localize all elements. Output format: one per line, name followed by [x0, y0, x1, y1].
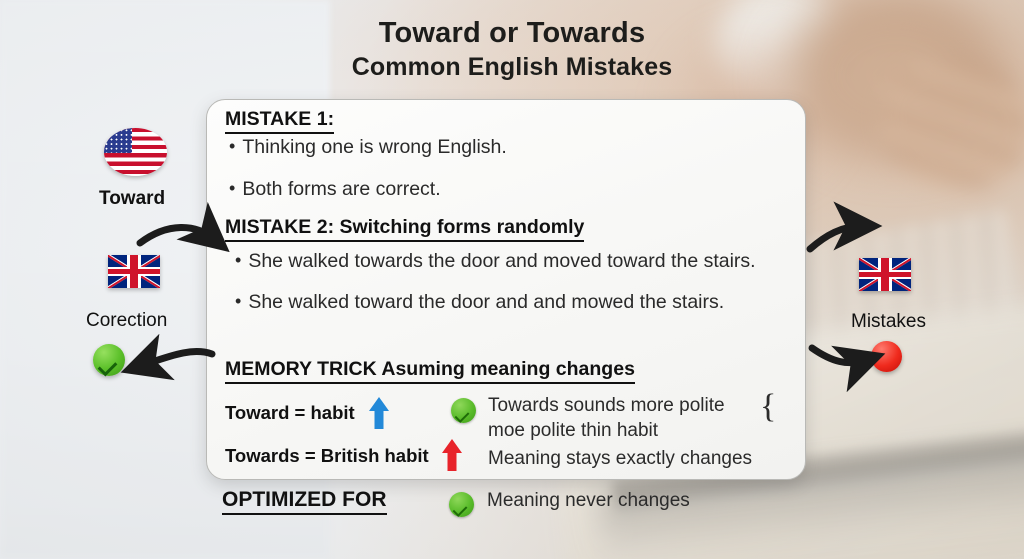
footer-note: Meaning never changes — [487, 490, 690, 512]
bullet-dot-icon: • — [229, 178, 235, 199]
us-flag-icon — [104, 128, 167, 176]
bullet-dot-icon: • — [235, 250, 241, 271]
footer-heading: OPTIMIZED FOR — [222, 488, 387, 515]
header: Toward or Towards Common English Mistake… — [0, 16, 1024, 82]
memory-row-2-label: Towards = British habit — [225, 445, 429, 467]
left-label-toward: Toward — [99, 188, 165, 210]
us-flag-canton — [104, 128, 132, 153]
content-card: MISTAKE 1: •Thinking one is wrong Englis… — [206, 99, 806, 480]
red-up-arrow-icon — [441, 438, 463, 472]
memory-note-1: Towards sounds more polite — [488, 395, 725, 417]
green-check-icon-left — [93, 344, 125, 376]
right-label-mistakes: Mistakes — [851, 311, 926, 333]
mistake2-bullet-1: •She walked towards the door and moved t… — [235, 250, 756, 273]
mistake2-heading: MISTAKE 2: Switching forms randomly — [225, 216, 584, 242]
mistake2-bullet-2: •She walked toward the door and and mowe… — [235, 291, 724, 314]
blue-up-arrow-icon — [368, 396, 390, 430]
red-dot-icon — [871, 341, 902, 372]
infographic-canvas: Toward or Towards Common English Mistake… — [0, 0, 1024, 559]
green-check-icon-card — [451, 398, 476, 423]
memory-row-1-label: Toward = habit — [225, 402, 355, 424]
mistake1-bullet-2: •Both forms are correct. — [229, 178, 441, 201]
page-subtitle: Common English Mistakes — [0, 52, 1024, 82]
bullet-dot-icon: • — [235, 291, 241, 312]
mistake1-heading: MISTAKE 1: — [225, 108, 334, 134]
uk-flag-icon-right — [859, 258, 911, 291]
mistake1-bullet-1: •Thinking one is wrong English. — [229, 136, 507, 159]
brace-glyph: { — [760, 388, 776, 426]
memory-trick-heading: MEMORY TRICK Asuming meaning changes — [225, 358, 635, 384]
left-label-corection: Corection — [86, 310, 167, 332]
page-title: Toward or Towards — [0, 16, 1024, 50]
memory-note-3: Meaning stays exactly changes — [488, 448, 752, 470]
green-check-icon-footer — [449, 492, 474, 517]
uk-flag-icon-left — [108, 255, 160, 288]
memory-note-2: moe polite thin habit — [488, 420, 658, 442]
bullet-dot-icon: • — [229, 136, 235, 157]
